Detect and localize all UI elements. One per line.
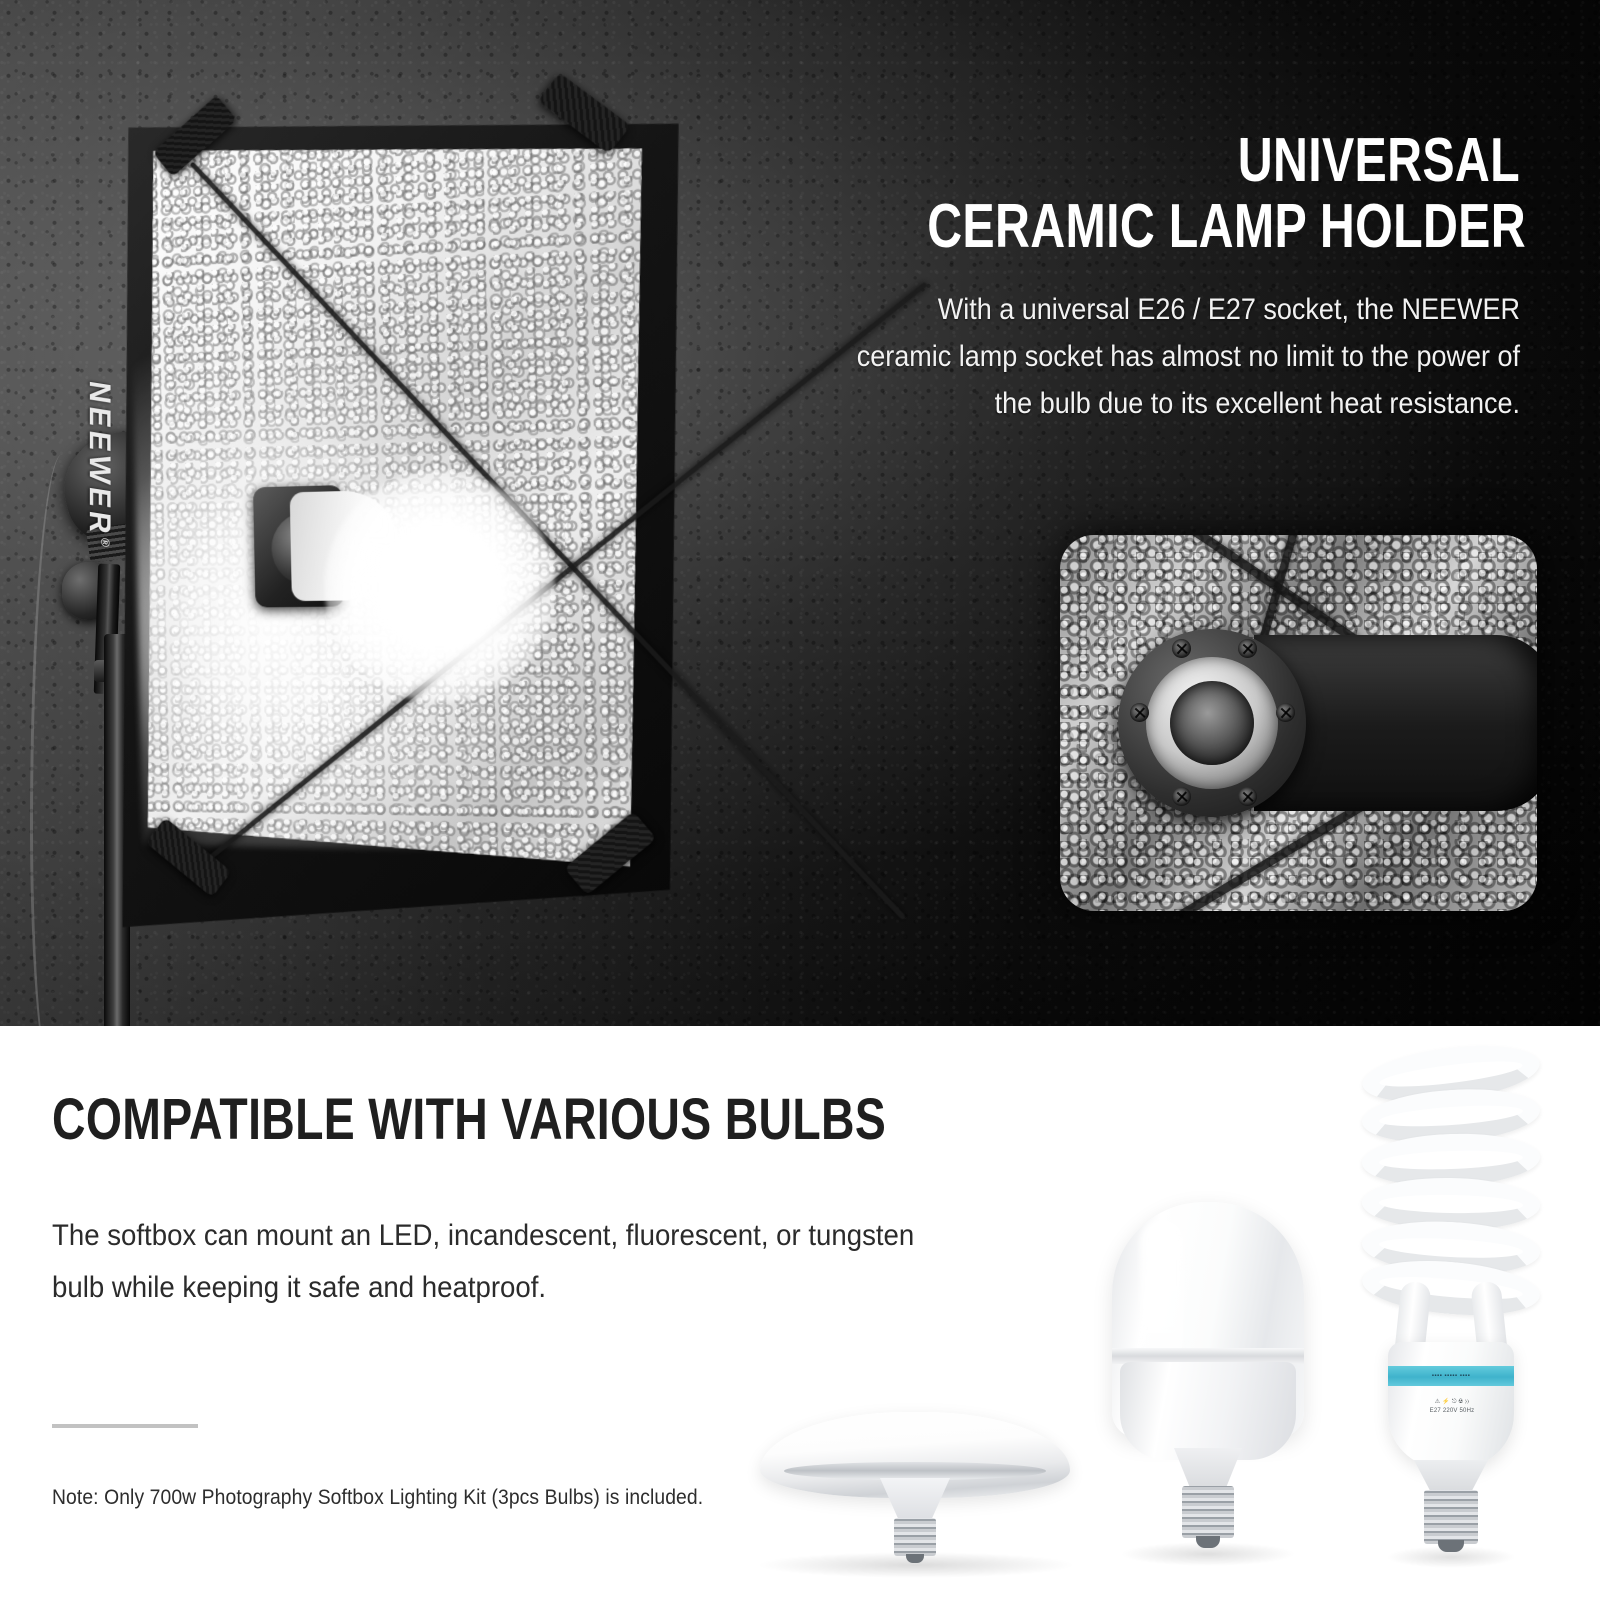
softbox-photo: NEEWER® xyxy=(28,84,748,984)
product-feature-page: NEEWER® UNIVERSAL CERAMIC LAMP HOLDER Wi… xyxy=(0,0,1600,1600)
socket-screw-1 xyxy=(1172,639,1191,658)
ufo-bulb-rim xyxy=(784,1462,1046,1480)
power-cable xyxy=(30,454,84,1026)
section-divider xyxy=(52,1424,198,1428)
led-bulb-contact-tip xyxy=(1196,1536,1220,1548)
headline-line-2: CERAMIC LAMP HOLDER xyxy=(927,194,1520,260)
cfl-bulb-teal-band: ▪▪▪▪ ▪▪▪▪▪ ▪▪▪▪ xyxy=(1388,1366,1514,1386)
inclusion-note: Note: Only 700w Photography Softbox Ligh… xyxy=(52,1486,703,1510)
neewer-logo-text: NEEWER xyxy=(83,379,116,540)
bottom-light-section: COMPATIBLE WITH VARIOUS BULBS The softbo… xyxy=(0,1026,1600,1600)
top-body-text: With a universal E26 / E27 socket, the N… xyxy=(836,286,1520,427)
cfl-label-symbols: ⚠ ⚡ ⎋ ☢ ⟩⟩ xyxy=(1435,1398,1470,1407)
cfl-label-rating: E27 220V 50Hz xyxy=(1430,1407,1475,1416)
cfl-bulb-e26-base xyxy=(1424,1490,1478,1544)
cfl-bulb-neck xyxy=(1414,1460,1488,1494)
led-bulb-lower-body xyxy=(1120,1362,1296,1460)
headline-block: UNIVERSAL CERAMIC LAMP HOLDER With a uni… xyxy=(760,128,1520,427)
t-shape-led-bulb xyxy=(1098,1202,1318,1562)
neewer-brand-logo: NEEWER® xyxy=(82,379,116,549)
ufo-bulb-neck xyxy=(880,1478,950,1522)
socket-flange xyxy=(1118,629,1306,817)
socket-screw-6 xyxy=(1238,787,1257,806)
cfl-band-print: ▪▪▪▪ ▪▪▪▪▪ ▪▪▪▪ xyxy=(1388,1366,1514,1386)
socket-screw-4 xyxy=(1276,703,1295,722)
cfl-bulb-label: ⚠ ⚡ ⎋ ☢ ⟩⟩ E27 220V 50Hz xyxy=(1412,1394,1492,1420)
bulb-gallery: ▪▪▪▪ ▪▪▪▪▪ ▪▪▪▪ ⚠ ⚡ ⎋ ☢ ⟩⟩ E27 220V 50Hz xyxy=(740,1026,1600,1600)
ceramic-lamp-holder-closeup xyxy=(1060,535,1537,911)
socket-ceramic-ring xyxy=(1146,657,1278,789)
cfl-spiral-bulb: ▪▪▪▪ ▪▪▪▪▪ ▪▪▪▪ ⚠ ⚡ ⎋ ☢ ⟩⟩ E27 220V 50Hz xyxy=(1336,1046,1566,1566)
ufo-led-bulb xyxy=(760,1412,1070,1562)
socket-thread-hole xyxy=(1170,681,1254,765)
registered-mark: ® xyxy=(98,537,112,548)
softbox-body xyxy=(95,70,696,961)
led-bulb-e26-base xyxy=(1182,1486,1234,1538)
headline-line-1: UNIVERSAL xyxy=(927,128,1520,194)
socket-screw-3 xyxy=(1130,703,1149,722)
top-dark-section: NEEWER® UNIVERSAL CERAMIC LAMP HOLDER Wi… xyxy=(0,0,1600,1026)
socket-screw-5 xyxy=(1172,787,1191,806)
cfl-bulb-contact-tip xyxy=(1438,1540,1464,1552)
ufo-bulb-e26-base xyxy=(894,1518,936,1556)
socket-screw-2 xyxy=(1238,639,1257,658)
